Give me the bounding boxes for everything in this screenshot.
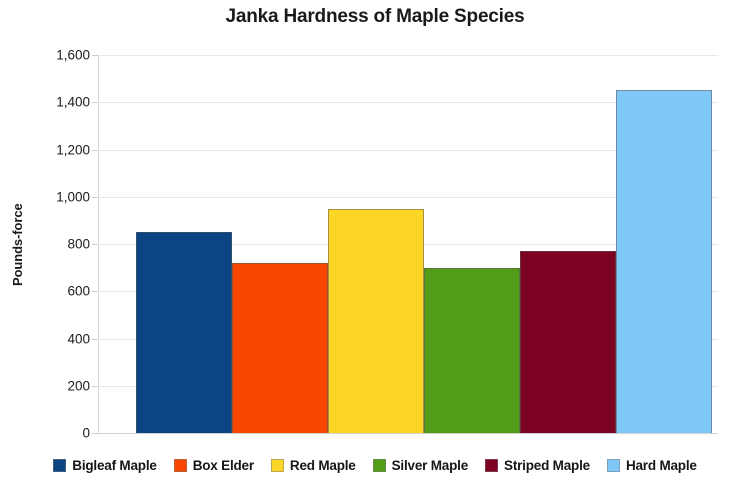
bars-layer xyxy=(98,55,718,433)
legend-swatch-icon xyxy=(174,459,187,472)
legend-item-bigleaf-maple[interactable]: Bigleaf Maple xyxy=(53,458,156,473)
bar-box-elder[interactable] xyxy=(232,263,328,433)
y-axis-tick-label: 200 xyxy=(30,378,90,393)
legend-swatch-icon xyxy=(53,459,66,472)
plot-area xyxy=(98,55,718,433)
bar-red-maple[interactable] xyxy=(328,209,424,433)
legend-swatch-icon xyxy=(485,459,498,472)
chart-container: Janka Hardness of Maple Species Pounds-f… xyxy=(0,0,750,500)
legend-swatch-icon xyxy=(271,459,284,472)
legend-item-box-elder[interactable]: Box Elder xyxy=(174,458,254,473)
legend-label: Box Elder xyxy=(193,458,254,473)
y-axis-tick-label: 600 xyxy=(30,284,90,299)
chart-legend: Bigleaf MapleBox ElderRed MapleSilver Ma… xyxy=(0,458,750,473)
legend-label: Striped Maple xyxy=(504,458,590,473)
y-axis-tick-label: 800 xyxy=(30,237,90,252)
legend-item-hard-maple[interactable]: Hard Maple xyxy=(607,458,697,473)
legend-item-red-maple[interactable]: Red Maple xyxy=(271,458,356,473)
bar-hard-maple[interactable] xyxy=(616,90,712,433)
y-axis-tick-label: 1,600 xyxy=(30,48,90,63)
legend-item-striped-maple[interactable]: Striped Maple xyxy=(485,458,590,473)
legend-label: Bigleaf Maple xyxy=(72,458,156,473)
chart-title: Janka Hardness of Maple Species xyxy=(0,6,750,28)
y-axis-tick-label: 1,000 xyxy=(30,189,90,204)
y-axis-tick-label: 400 xyxy=(30,331,90,346)
legend-label: Red Maple xyxy=(290,458,356,473)
y-axis-tick-label: 1,200 xyxy=(30,142,90,157)
legend-label: Silver Maple xyxy=(392,458,468,473)
y-axis-tick-labels: 1,6001,4001,2001,0008006004002000 xyxy=(28,55,90,433)
legend-swatch-icon xyxy=(607,459,620,472)
bar-silver-maple[interactable] xyxy=(424,268,520,433)
y-axis-tick-label: 0 xyxy=(30,426,90,441)
bar-striped-maple[interactable] xyxy=(520,251,616,433)
legend-swatch-icon xyxy=(373,459,386,472)
y-axis-tick-label: 1,400 xyxy=(30,95,90,110)
y-axis-tick xyxy=(92,433,98,434)
gridline xyxy=(98,433,718,434)
legend-label: Hard Maple xyxy=(626,458,697,473)
legend-item-silver-maple[interactable]: Silver Maple xyxy=(373,458,468,473)
bar-bigleaf-maple[interactable] xyxy=(136,232,232,433)
